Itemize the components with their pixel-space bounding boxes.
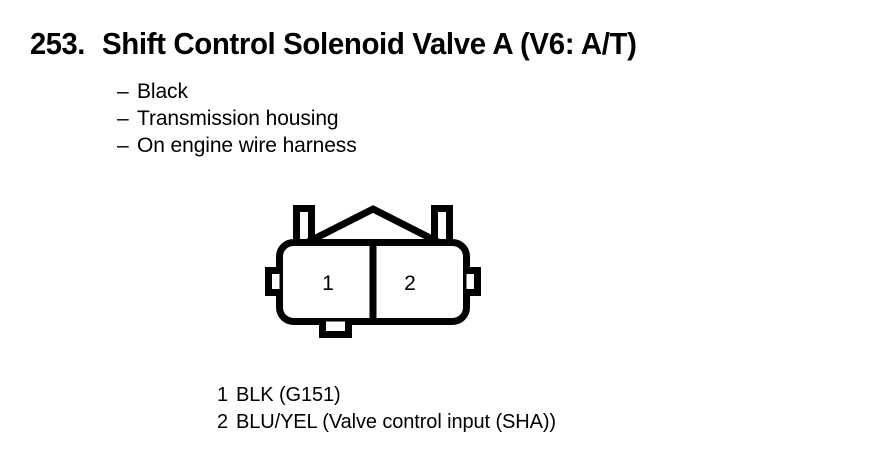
page-title: 253. Shift Control Solenoid Valve A (V6:… <box>30 26 665 62</box>
side-notch-left-icon <box>269 271 280 293</box>
pin-description: BLU/YEL (Valve control input (SHA)) <box>236 409 556 435</box>
side-notch-right-icon <box>467 271 478 293</box>
pin-number: 1 <box>217 382 236 408</box>
property-label: Black <box>137 79 188 105</box>
property-label: On engine wire harness <box>137 133 357 159</box>
list-item: – Transmission housing <box>117 106 357 133</box>
pin-legend: 1 BLK (G151) 2 BLU/YEL (Valve control in… <box>217 382 556 436</box>
connector-diagram: 1 2 <box>248 192 498 347</box>
peak-ridge-icon <box>308 209 438 242</box>
list-item: – On engine wire harness <box>117 133 357 160</box>
connector-outline-svg: 1 2 <box>248 192 498 347</box>
list-item: – Black <box>117 79 357 106</box>
title-text: Shift Control Solenoid Valve A (V6: A/T) <box>102 26 637 62</box>
diagram-page: 253. Shift Control Solenoid Valve A (V6:… <box>0 0 896 470</box>
property-label: Transmission housing <box>137 106 338 132</box>
cavity-number-2: 2 <box>404 272 416 295</box>
top-tab-right-icon <box>435 209 450 243</box>
top-tab-left-icon <box>297 209 312 243</box>
pin-number: 2 <box>217 409 236 435</box>
pin-description: BLK (G151) <box>236 382 341 408</box>
dash-icon: – <box>117 106 137 132</box>
pin-legend-row: 1 BLK (G151) <box>217 382 556 409</box>
bottom-tab-icon <box>323 322 349 335</box>
pin-legend-row: 2 BLU/YEL (Valve control input (SHA)) <box>217 409 556 436</box>
dash-icon: – <box>117 133 137 159</box>
dash-icon: – <box>117 79 137 105</box>
property-list: – Black – Transmission housing – On engi… <box>117 79 357 160</box>
entry-number: 253. <box>30 26 85 62</box>
cavity-number-1: 1 <box>322 272 334 295</box>
